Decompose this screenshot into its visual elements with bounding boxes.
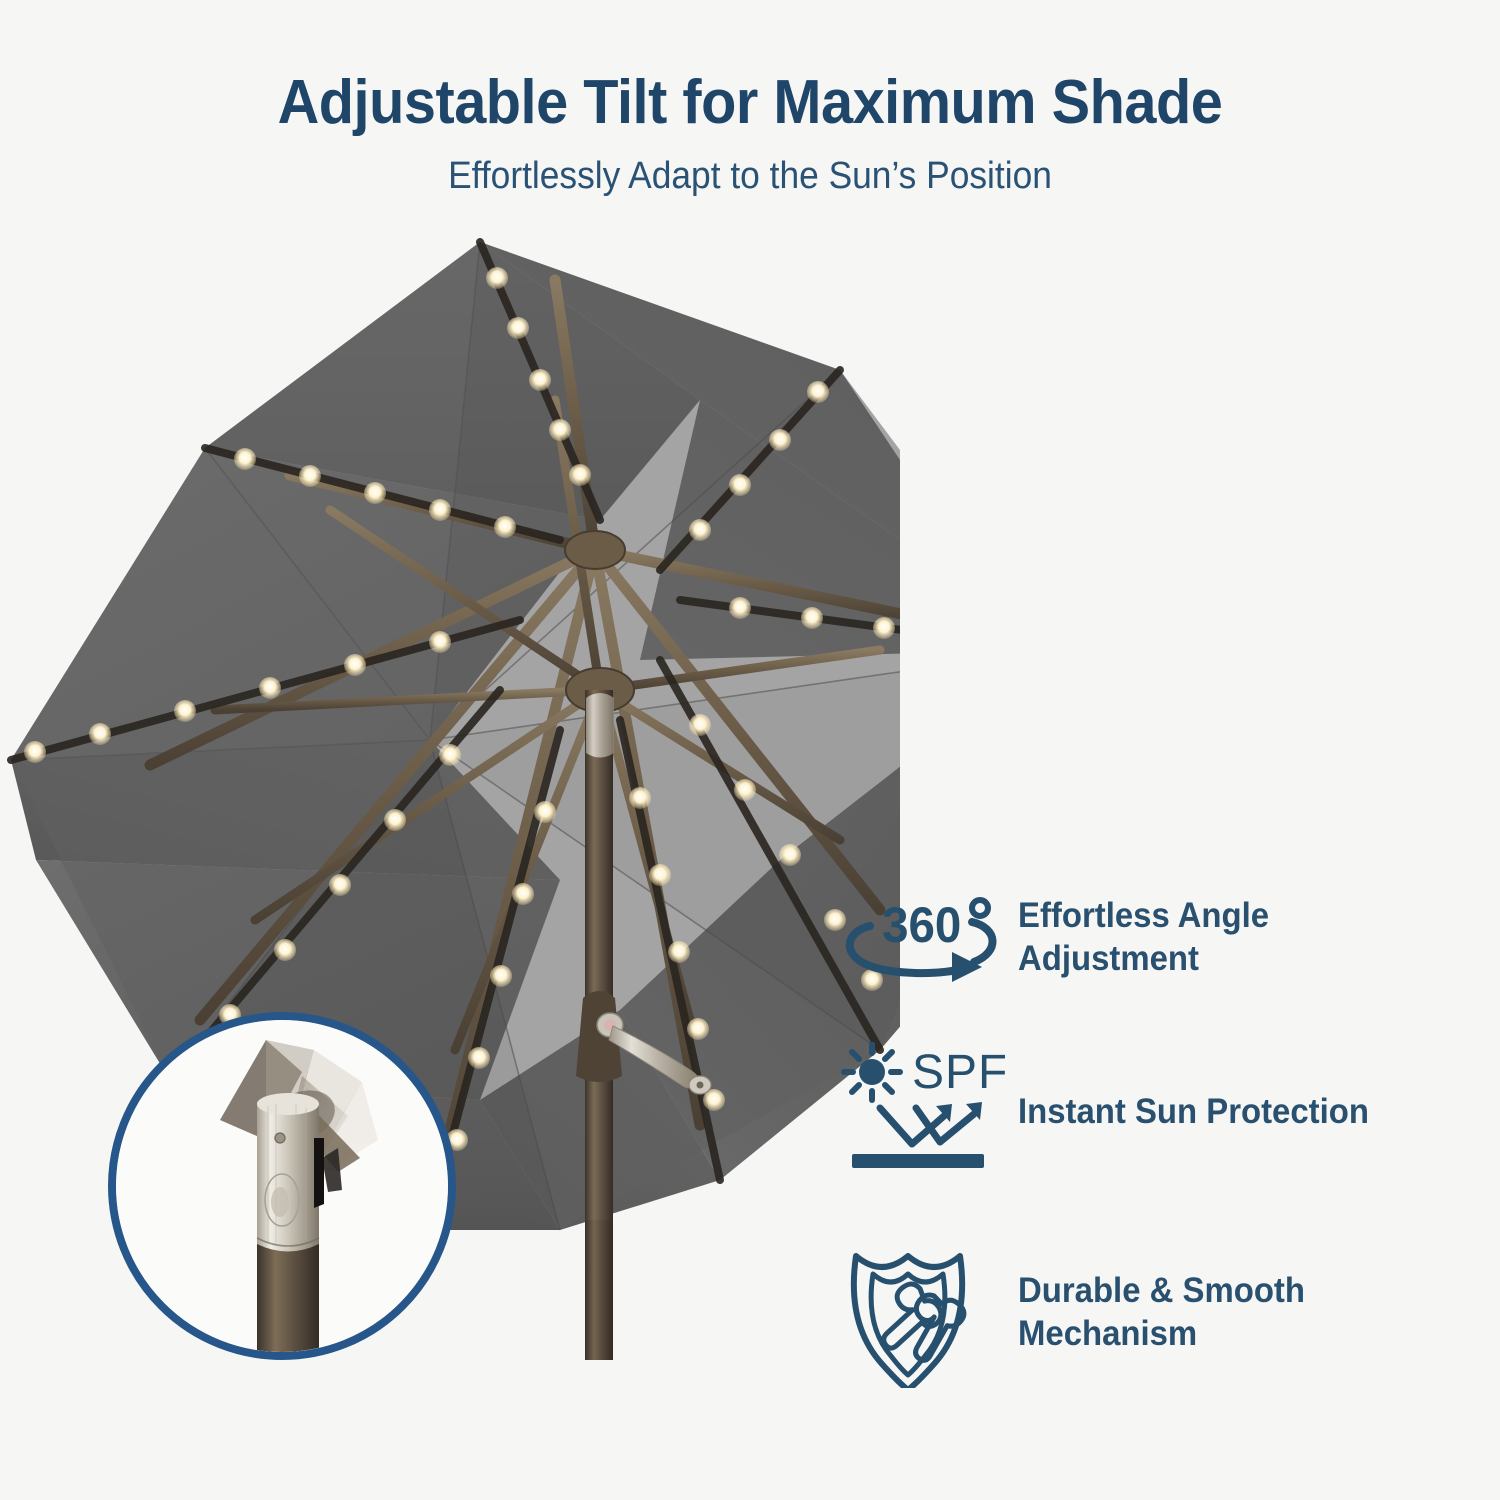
feature-label-angle-adjustment: Effortless Angle Adjustment [1018, 895, 1269, 980]
page-title: Adjustable Tilt for Maximum Shade [53, 70, 1448, 135]
feature-row-durable-mechanism: Durable & Smooth Mechanism [840, 1238, 1480, 1388]
svg-text:360: 360 [882, 898, 961, 953]
360-degree-rotation-icon: 360 [840, 890, 1018, 986]
tilt-collar [257, 1093, 324, 1252]
sun-icon [844, 1044, 900, 1100]
feature-label-line1: Effortless Angle [1018, 896, 1269, 935]
tilt-mechanism-detail-circle [108, 1012, 456, 1360]
fabric-bar [852, 1154, 984, 1168]
shield-wrenches-icon [840, 1238, 1018, 1388]
heading-block: Adjustable Tilt for Maximum Shade Effort… [0, 70, 1500, 198]
feature-row-sun-protection: SPF Instant Sun Protection [840, 1042, 1480, 1182]
feature-list: 360 Effortless Angle Adjustment [840, 890, 1480, 1444]
screw-icon [275, 1133, 285, 1143]
feature-row-angle-adjustment: 360 Effortless Angle Adjustment [840, 890, 1480, 986]
feature-label-line1: Instant Sun Protection [1018, 1092, 1369, 1131]
spf-sun-protection-icon: SPF [840, 1042, 1018, 1182]
upper-hub [565, 531, 625, 569]
feature-label-durable-mechanism: Durable & Smooth Mechanism [1018, 1270, 1305, 1355]
page-subtitle: Effortlessly Adapt to the Sun’s Position [53, 155, 1448, 198]
svg-text:SPF: SPF [912, 1046, 1005, 1099]
feature-label-sun-protection: Instant Sun Protection [1018, 1091, 1369, 1134]
infographic-page: Adjustable Tilt for Maximum Shade Effort… [0, 0, 1500, 1500]
feature-label-line2: Mechanism [1018, 1313, 1305, 1356]
feature-label-line1: Durable & Smooth [1018, 1271, 1305, 1310]
feature-label-line2: Adjustment [1018, 938, 1269, 981]
